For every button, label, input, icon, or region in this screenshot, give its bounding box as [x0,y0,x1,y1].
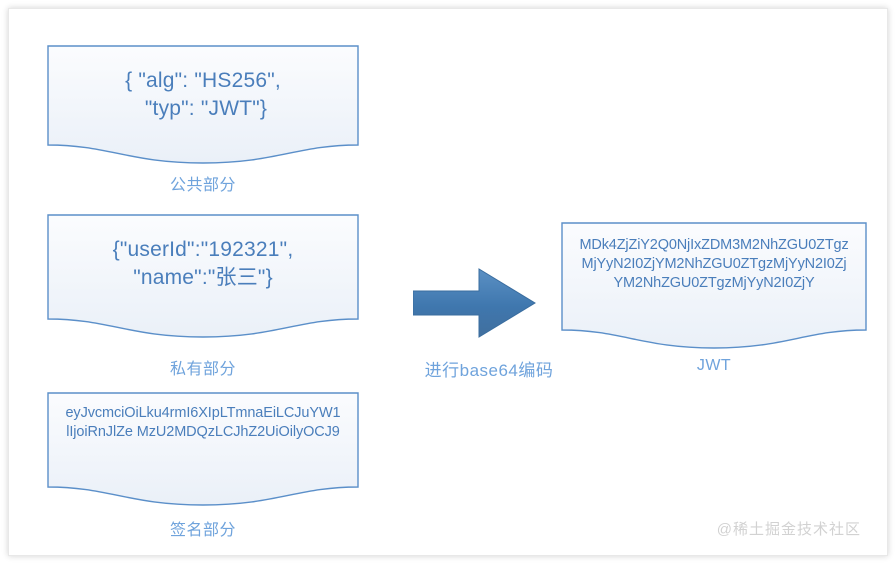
diagram-frame: { "alg": "HS256", "typ": "JWT"} 公共部分 {"u… [8,8,888,556]
jwt-signature-caption: 签名部分 [47,516,359,540]
jwt-header-caption: 公共部分 [47,171,359,195]
jwt-payload-shape: {"userId":"192321", "name":"张三"} [47,214,359,344]
jwt-header-shape: { "alg": "HS256", "typ": "JWT"} [47,45,359,170]
jwt-result-shape: MDk4ZjZiY2Q0NjIxZDM3M2NhZGU0ZTgz MjYyN2I… [561,222,867,355]
arrow-right-icon [413,267,537,339]
jwt-payload-caption: 私有部分 [47,355,359,379]
jwt-signature-shape: eyJvcmciOiLku4rmI6XIpLTmnaEiLCJuYW1 lIjo… [47,392,359,512]
diagram-canvas: { "alg": "HS256", "typ": "JWT"} 公共部分 {"u… [0,0,896,564]
watermark: @稀土掘金技术社区 [717,518,861,539]
jwt-result-caption: JWT [561,357,867,375]
arrow-label: 进行base64编码 [399,356,579,381]
